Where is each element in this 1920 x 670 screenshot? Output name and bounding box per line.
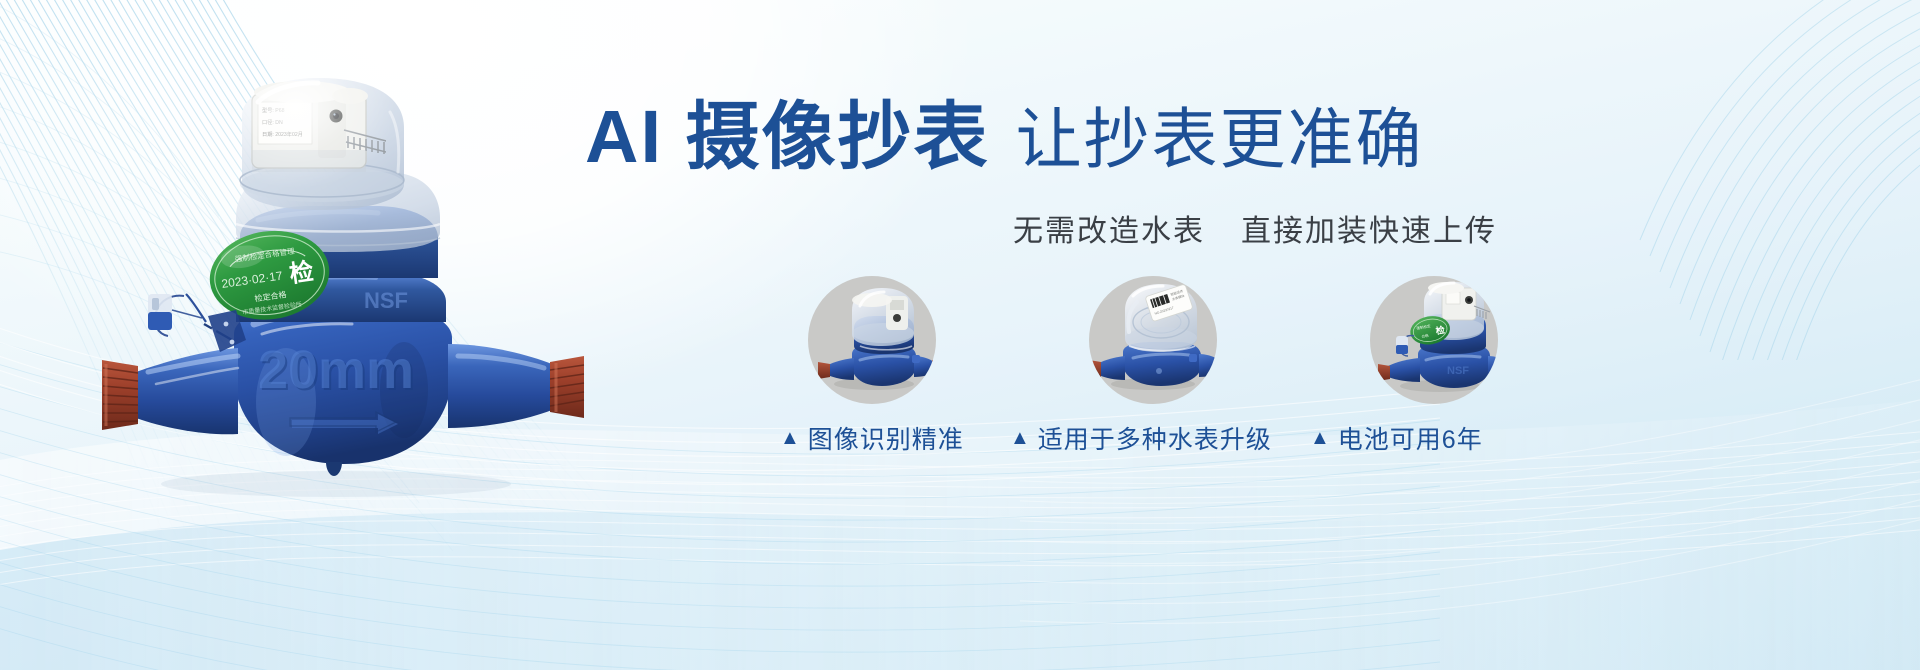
thread-right: [550, 356, 584, 418]
triangle-up-icon: ▲: [1010, 428, 1031, 448]
svg-text:NSF: NSF: [1447, 365, 1469, 377]
clear-dome-cover: 型号: P68 口径: DN 日期: 2023年02月: [236, 78, 440, 252]
feature-label-2: 适用于多种水表升级: [1038, 420, 1272, 456]
headline-secondary: 让抄表更准确: [1016, 102, 1424, 176]
promo-banner: 20mm 20mm NSF: [0, 0, 1920, 670]
thumb-battery-meter: 检 强制检定 合格 NSF: [1370, 276, 1498, 404]
svg-text:检: 检: [1435, 324, 1446, 336]
feature-caption-2: ▲ 适用于多种水表升级: [1010, 420, 1272, 456]
subtitle-part-1: 无需改造水表: [1013, 215, 1205, 248]
thread-left: [102, 360, 138, 430]
feature-caption-row: ▲ 图像识别精准 ▲ 适用于多种水表升级 ▲ 电池可用6年: [770, 420, 1720, 460]
thumbnail-1[interactable]: [808, 276, 936, 404]
feature-label-1: 图像识别精准: [808, 420, 964, 456]
thumb-seal: [1396, 335, 1414, 356]
svg-text:检: 检: [288, 257, 316, 288]
feature-caption-1: ▲ 图像识别精准: [780, 420, 964, 456]
subtitle: 无需改造水表直接加装快速上传: [1013, 206, 1497, 250]
thumb-camera-meter: [808, 276, 936, 404]
thumbnail-3[interactable]: 检 强制检定 合格 NSF: [1370, 276, 1498, 404]
svg-text:20mm: 20mm: [258, 340, 414, 400]
embossed-size-label: 20mm 20mm: [258, 340, 416, 402]
subtitle-part-2: 直接加装快速上传: [1241, 215, 1497, 248]
thumb-clear-dome-meter: 智能远传 水表模块 NO.20230217: [1089, 276, 1217, 404]
triangle-up-icon: ▲: [780, 428, 801, 448]
feature-label-3: 电池可用6年: [1338, 420, 1483, 456]
headline: AI 摄像抄表让抄表更准确: [585, 100, 1424, 174]
embossed-brand: NSF: [364, 288, 408, 313]
triangle-up-icon: ▲: [1310, 428, 1331, 448]
headline-primary: AI 摄像抄表: [585, 95, 990, 178]
feature-caption-3: ▲ 电池可用6年: [1310, 420, 1483, 456]
thumbnail-2[interactable]: 智能远传 水表模块 NO.20230217: [1089, 276, 1217, 404]
main-product-water-meter: 20mm 20mm NSF: [86, 72, 586, 502]
